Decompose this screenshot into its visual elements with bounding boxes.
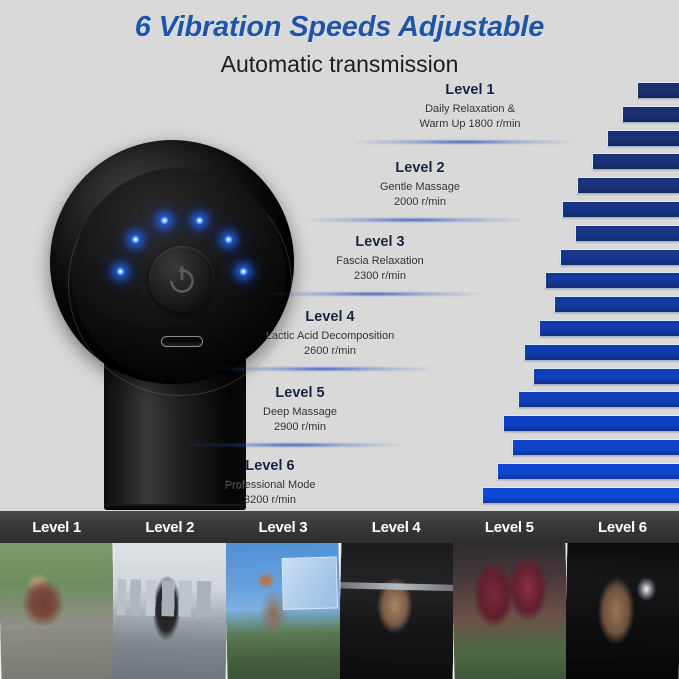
chart-bar-18: [482, 487, 679, 504]
photo-woman-stretching-outdoors: [0, 543, 113, 679]
level-description-6: Professional Mode3200 r/min: [150, 475, 390, 508]
led-indicator-1: [116, 267, 125, 276]
chart-bar-4: [592, 153, 679, 170]
chart-bar-12: [524, 344, 679, 361]
photo-american-football-players: [453, 543, 566, 679]
level-desc-line2-6: 3200 r/min: [150, 493, 390, 508]
photo-cell-level-5: [453, 543, 566, 679]
led-indicator-2: [131, 235, 140, 244]
activity-photo-strip: [0, 543, 679, 679]
level-desc-line1-5: Deep Massage: [180, 405, 420, 420]
photo-boxer-training: [566, 543, 679, 679]
chart-bar-5: [577, 177, 679, 194]
strip-label-level-3: Level 3: [226, 511, 339, 543]
strip-label-level-5: Level 5: [453, 511, 566, 543]
level-block-6: Level 6Professional Mode3200 r/min: [150, 458, 390, 507]
chart-bar-15: [503, 415, 679, 432]
chart-bar-11: [539, 320, 679, 337]
photo-cell-level-3: [226, 543, 339, 679]
photo-cell-level-4: [340, 543, 453, 679]
level-title-4: Level 4: [210, 309, 450, 326]
chart-bar-1: [637, 82, 679, 99]
level-title-5: Level 5: [180, 385, 420, 402]
level-desc-line2-5: 2900 r/min: [180, 420, 420, 435]
photo-basketball-player-dunking: [226, 543, 339, 679]
chart-bar-2: [622, 106, 679, 123]
photo-man-running-in-city: [113, 543, 226, 679]
level-desc-line1-6: Professional Mode: [150, 478, 390, 493]
power-button[interactable]: [149, 246, 215, 312]
level-desc-line1-4: Lactic Acid Decomposition: [210, 329, 450, 344]
photo-cell-level-6: [566, 543, 679, 679]
level-description-4: Lactic Acid Decomposition2600 r/min: [210, 326, 450, 359]
page-title: 6 Vibration Speeds Adjustable: [0, 0, 679, 42]
photo-cell-level-2: [113, 543, 226, 679]
chart-bar-9: [545, 272, 679, 289]
strip-label-level-2: Level 2: [113, 511, 226, 543]
level-block-4: Level 4Lactic Acid Decomposition2600 r/m…: [210, 309, 450, 358]
chart-bar-8: [560, 249, 679, 266]
photo-cell-level-1: [0, 543, 113, 679]
led-indicator-6: [239, 267, 248, 276]
chart-bar-17: [497, 463, 679, 480]
level-divider-5: [178, 443, 408, 447]
usb-c-port-icon: [161, 336, 203, 347]
led-indicator-4: [195, 216, 204, 225]
led-indicator-5: [224, 235, 233, 244]
level-desc-line2-4: 2600 r/min: [210, 344, 450, 359]
level-description-5: Deep Massage2900 r/min: [180, 402, 420, 435]
chart-bar-13: [533, 368, 679, 385]
photo-strip-label-bar: Level 1Level 2Level 3Level 4Level 5Level…: [0, 511, 679, 543]
led-indicator-3: [160, 216, 169, 225]
level-title-6: Level 6: [150, 458, 390, 475]
chart-bar-7: [575, 225, 679, 242]
chart-bar-10: [554, 296, 679, 313]
chart-bar-16: [512, 439, 679, 456]
level-divider-4: [208, 367, 438, 371]
page-subtitle: Automatic transmission: [0, 42, 679, 76]
chart-bar-14: [518, 391, 679, 408]
strip-label-level-1: Level 1: [0, 511, 113, 543]
header: 6 Vibration Speeds Adjustable Automatic …: [0, 0, 679, 86]
speed-staircase-bar-chart: [455, 82, 679, 512]
level-block-5: Level 5Deep Massage2900 r/min: [180, 385, 420, 434]
chart-bar-3: [607, 130, 679, 147]
level-divider-3: [258, 292, 488, 296]
strip-label-level-6: Level 6: [566, 511, 679, 543]
strip-label-level-4: Level 4: [340, 511, 453, 543]
photo-man-weightlifting-in-gym: [340, 543, 453, 679]
power-icon: [164, 261, 200, 297]
chart-bar-6: [562, 201, 679, 218]
